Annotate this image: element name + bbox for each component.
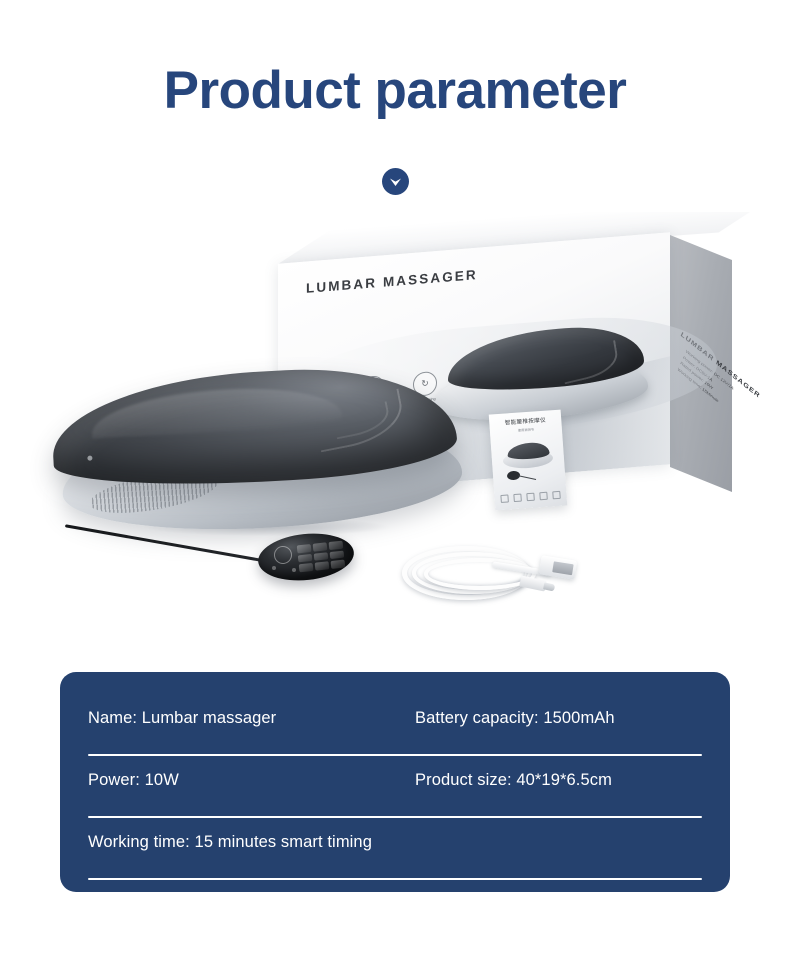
usb-a-connector bbox=[539, 555, 578, 579]
manual-icon-row bbox=[500, 491, 560, 503]
remote-key bbox=[331, 560, 346, 569]
remote-key bbox=[298, 554, 313, 563]
manual-feature-icon bbox=[552, 491, 561, 500]
remote-button bbox=[272, 566, 276, 570]
manual-feature-icon bbox=[526, 493, 535, 502]
spec-power: Power: 10W bbox=[88, 771, 415, 790]
chevron-down-icon bbox=[382, 168, 409, 195]
manual-product-art bbox=[500, 437, 556, 471]
page-title: Product parameter bbox=[0, 64, 790, 117]
spec-row: Working time: 15 minutes smart timing bbox=[88, 822, 702, 884]
remote-control bbox=[258, 534, 354, 580]
user-manual: 智能腰椎按摩仪 使用说明书 bbox=[489, 410, 568, 511]
spec-divider bbox=[88, 754, 702, 756]
dc-barrel-plug bbox=[519, 575, 547, 591]
remote-key bbox=[313, 542, 328, 551]
remote-keypad bbox=[297, 541, 346, 573]
remote-key bbox=[297, 544, 312, 553]
specification-panel: Name: Lumbar massager Battery capacity: … bbox=[60, 672, 730, 892]
remote-key bbox=[330, 550, 345, 559]
massager-indicator-light bbox=[87, 456, 92, 461]
manual-feature-icon bbox=[539, 492, 548, 501]
remote-button bbox=[292, 568, 296, 572]
usb-charging-cable bbox=[400, 540, 590, 602]
manual-art-remote bbox=[507, 471, 521, 481]
product-photo: LUMBAR MASSAGER Working power: DC 12V/1A… bbox=[0, 212, 790, 632]
remote-key bbox=[329, 541, 344, 550]
spec-row: Power: 10W Product size: 40*19*6.5cm bbox=[88, 760, 702, 822]
spec-name: Name: Lumbar massager bbox=[88, 709, 415, 728]
spec-battery-capacity: Battery capacity: 1500mAh bbox=[415, 709, 702, 728]
manual-feature-icon bbox=[500, 494, 509, 503]
spec-divider bbox=[88, 816, 702, 818]
spec-working-time: Working time: 15 minutes smart timing bbox=[88, 833, 372, 852]
massager-highlight bbox=[90, 383, 342, 438]
manual-feature-icon bbox=[513, 494, 522, 503]
box-printed-swirl bbox=[560, 340, 620, 384]
spec-divider bbox=[88, 878, 702, 880]
spec-row: Name: Lumbar massager Battery capacity: … bbox=[88, 698, 702, 760]
remote-key bbox=[299, 563, 314, 572]
lumbar-massager-unit bbox=[52, 372, 472, 532]
spec-product-size: Product size: 40*19*6.5cm bbox=[415, 771, 702, 790]
remote-key bbox=[314, 552, 329, 561]
remote-key bbox=[315, 562, 330, 571]
